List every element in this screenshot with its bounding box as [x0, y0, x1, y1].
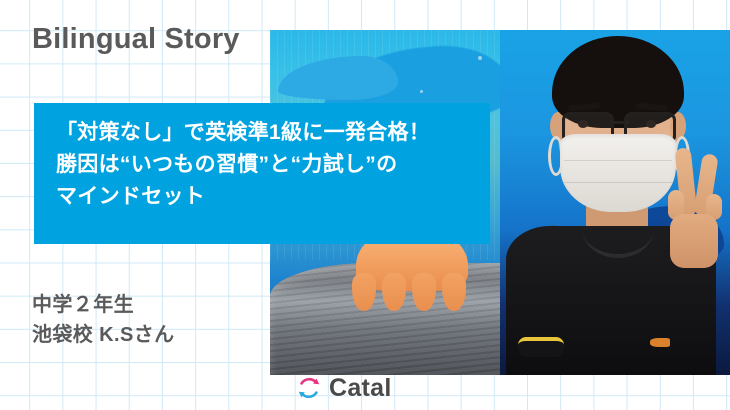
paw-toe [442, 273, 466, 311]
student-face-mask [560, 134, 676, 212]
paw-toe [412, 273, 436, 311]
paw-toe [352, 273, 376, 311]
tshirt-dog-logo-icon [650, 338, 670, 347]
student-caption: 中学２年生 池袋校 K.Sさん [32, 290, 175, 351]
student-portrait [500, 30, 730, 375]
student-peace-sign-hand [666, 148, 724, 268]
headline-banner: 「対策なし」で英検準1級に一発合格！ 勝因は“いつもの習慣”と“力試し”の マイ… [34, 103, 490, 244]
paw-toe [382, 273, 406, 311]
brand-logo: Catal [296, 375, 392, 401]
headline-banner-text: 「対策なし」で英検準1級に一発合格！ 勝因は“いつもの習慣”と“力試し”の マイ… [56, 117, 480, 213]
water-bubble [420, 90, 423, 93]
page-title: Bilingual Story [32, 22, 240, 57]
student-wristband [518, 337, 564, 357]
brand-name: Catal [329, 376, 392, 401]
hand-palm [670, 214, 718, 268]
water-bubble [478, 56, 482, 60]
circular-arrow-icon [296, 375, 322, 401]
bilingual-story-slide: Bilingual Story [0, 0, 730, 410]
